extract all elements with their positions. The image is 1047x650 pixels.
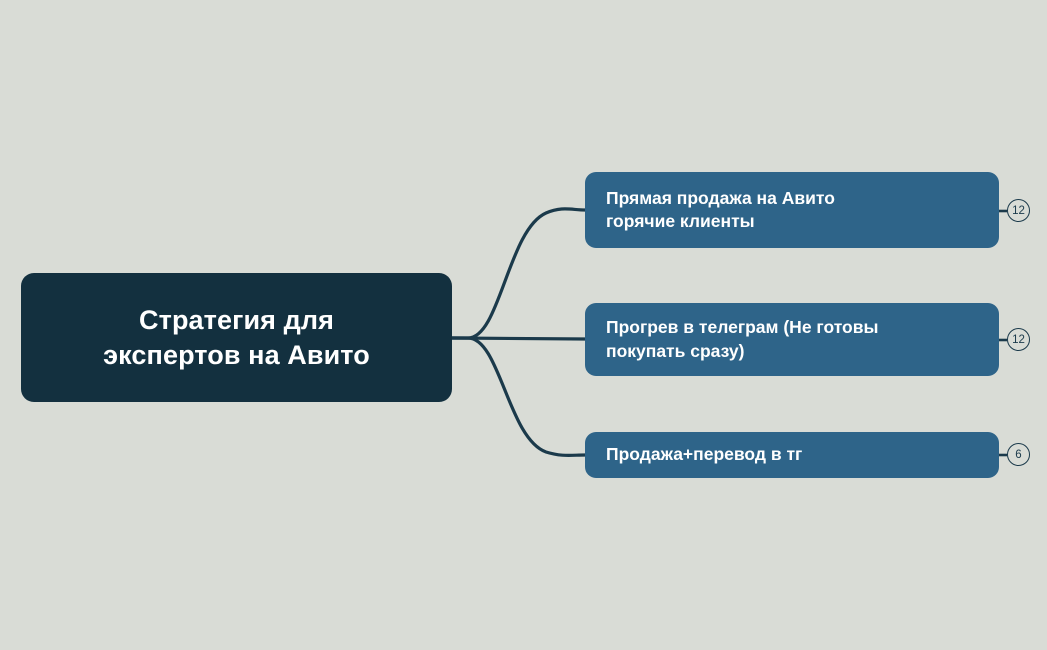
child-node-sale-transfer[interactable]: Продажа+перевод в тг <box>585 432 999 478</box>
root-node[interactable]: Стратегия для экспертов на Авито <box>21 273 452 402</box>
child-node-telegram-warmup[interactable]: Прогрев в телеграм (Не готовы покупать с… <box>585 303 999 376</box>
child-node-label: Продажа+перевод в тг <box>585 443 802 466</box>
child-node-direct-sale[interactable]: Прямая продажа на Авито горячие клиенты <box>585 172 999 248</box>
child-badge-count[interactable]: 6 <box>1007 443 1030 466</box>
connector-to-child-1 <box>452 338 585 339</box>
badge-value: 12 <box>1012 334 1025 346</box>
child-node-label: Прямая продажа на Авито горячие клиенты <box>585 187 835 234</box>
badge-value: 6 <box>1015 449 1021 461</box>
mindmap-canvas: Стратегия для экспертов на Авито Прямая … <box>0 0 1047 650</box>
root-node-label: Стратегия для экспертов на Авито <box>87 303 386 371</box>
badge-value: 12 <box>1012 205 1025 217</box>
connector-to-child-2 <box>452 338 585 455</box>
connector-to-child-0 <box>452 209 585 338</box>
child-node-label: Прогрев в телеграм (Не готовы покупать с… <box>585 316 878 363</box>
child-badge-count[interactable]: 12 <box>1007 328 1030 351</box>
child-badge-count[interactable]: 12 <box>1007 199 1030 222</box>
